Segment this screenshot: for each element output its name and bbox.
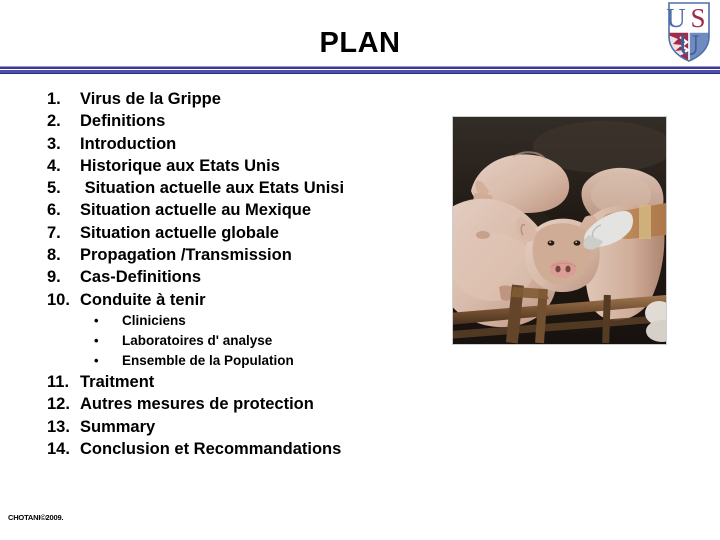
sub-list-item-label: Cliniciens xyxy=(122,311,440,331)
list-item-number: 11. xyxy=(40,371,80,393)
list-item-label: Virus de la Grippe xyxy=(80,88,440,110)
sub-list-item-label: Ensemble de la Population xyxy=(122,351,440,371)
bullet-icon: • xyxy=(94,351,122,371)
divider-line-5 xyxy=(0,73,720,74)
list-item-label: Introduction xyxy=(80,133,440,155)
list-item[interactable]: 5. Situation actuelle aux Etats Unisi xyxy=(40,177,440,199)
sub-list-item-label: Laboratoires d' analyse xyxy=(122,331,440,351)
list-item-label: Historique aux Etats Unis xyxy=(80,155,440,177)
list-item-label: Definitions xyxy=(80,110,440,132)
list-item-number: 1. xyxy=(40,88,80,110)
list-item-number: 12. xyxy=(40,393,80,415)
list-item[interactable]: 14. Conclusion et Recommandations xyxy=(40,438,440,460)
list-item-label: Autres mesures de protection xyxy=(80,393,440,415)
list-item-number: 7. xyxy=(40,222,80,244)
list-item-number: 9. xyxy=(40,266,80,288)
list-item[interactable]: 11. Traitment xyxy=(40,371,440,393)
list-item-label: Situation actuelle aux Etats Unisi xyxy=(80,177,440,199)
list-item-label: Situation actuelle globale xyxy=(80,222,440,244)
list-item-label: Conduite à tenir xyxy=(80,289,440,311)
page-title: PLAN xyxy=(0,26,720,60)
usu-shield-logo-icon: U S U xyxy=(665,1,713,63)
list-item[interactable]: 6. Situation actuelle au Mexique xyxy=(40,199,440,221)
list-item-label: Situation actuelle au Mexique xyxy=(80,199,440,221)
footer-copyright: CHOTANI©2009. xyxy=(8,513,63,522)
list-item[interactable]: 4. Historique aux Etats Unis xyxy=(40,155,440,177)
list-item[interactable]: 13. Summary xyxy=(40,416,440,438)
bullet-icon: • xyxy=(94,331,122,351)
title-divider xyxy=(0,66,720,75)
list-item[interactable]: 2. Definitions xyxy=(40,110,440,132)
list-item-label: Traitment xyxy=(80,371,440,393)
list-item-label: Summary xyxy=(80,416,440,438)
list-item-number: 10. xyxy=(40,289,80,311)
sub-list-item[interactable]: • Cliniciens xyxy=(40,311,440,331)
list-item[interactable]: 1. Virus de la Grippe xyxy=(40,88,440,110)
outline-list: 1. Virus de la Grippe 2. Definitions 3. … xyxy=(40,88,440,460)
list-item-number: 8. xyxy=(40,244,80,266)
pigs-in-pen-photograph xyxy=(452,116,667,345)
list-item-label: Cas-Definitions xyxy=(80,266,440,288)
list-item-number: 6. xyxy=(40,199,80,221)
list-item-number: 13. xyxy=(40,416,80,438)
list-item-number: 3. xyxy=(40,133,80,155)
list-item-number: 4. xyxy=(40,155,80,177)
list-item[interactable]: 12. Autres mesures de protection xyxy=(40,393,440,415)
list-item-number: 2. xyxy=(40,110,80,132)
list-item-number: 14. xyxy=(40,438,80,460)
list-item-number: 5. xyxy=(40,177,80,199)
sub-list-item[interactable]: • Laboratoires d' analyse xyxy=(40,331,440,351)
list-item[interactable]: 10. Conduite à tenir xyxy=(40,289,440,311)
list-item[interactable]: 9. Cas-Definitions xyxy=(40,266,440,288)
bullet-icon: • xyxy=(94,311,122,331)
presentation-slide: PLAN U xyxy=(0,0,720,540)
list-item-label: Conclusion et Recommandations xyxy=(80,438,440,460)
list-item[interactable]: 8. Propagation /Transmission xyxy=(40,244,440,266)
list-item-label: Propagation /Transmission xyxy=(80,244,440,266)
sub-list-item[interactable]: • Ensemble de la Population xyxy=(40,351,440,371)
list-item[interactable]: 3. Introduction xyxy=(40,133,440,155)
list-item[interactable]: 7. Situation actuelle globale xyxy=(40,222,440,244)
